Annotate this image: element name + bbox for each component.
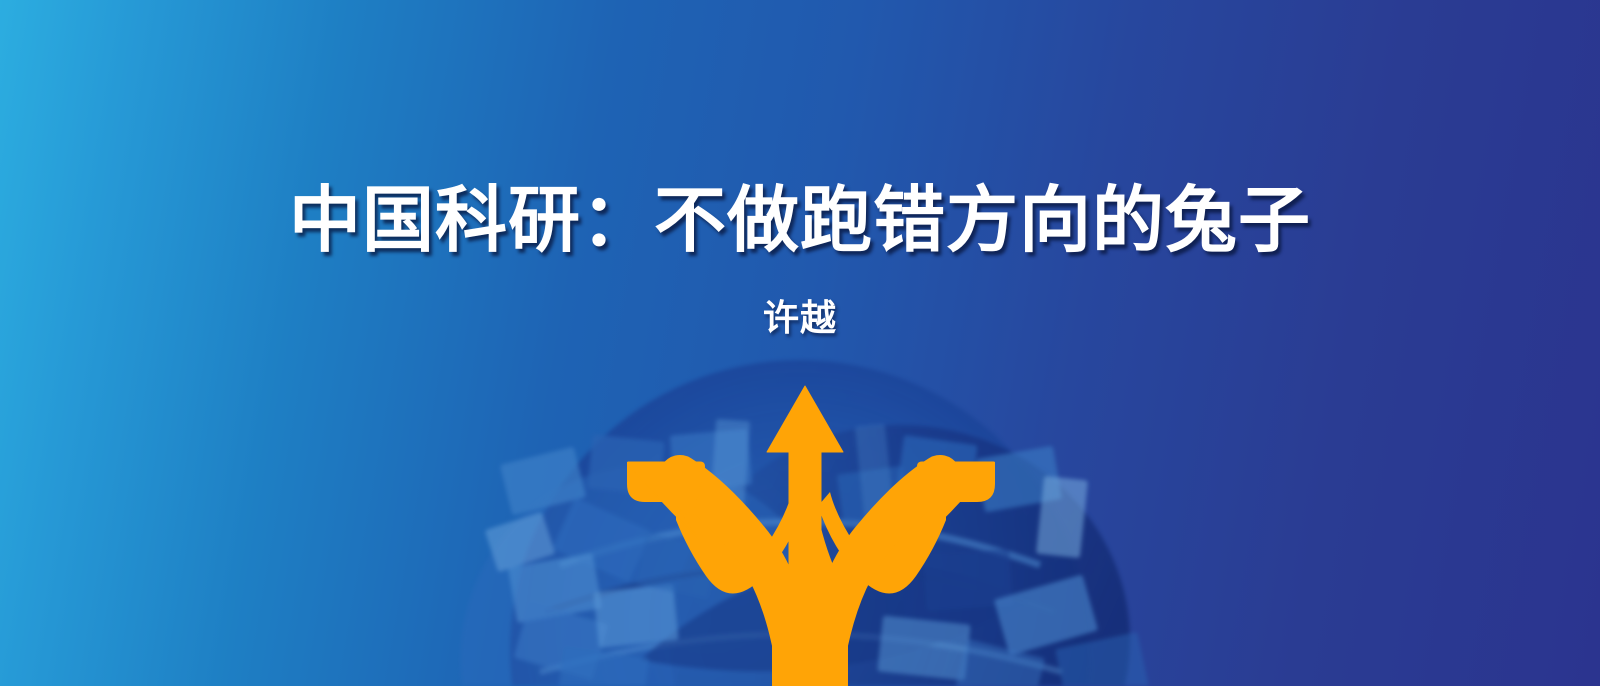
presentation-slide: 中国科研：不做跑错方向的兔子 许越 [0,0,1600,686]
slide-text-layer: 中国科研：不做跑错方向的兔子 许越 [0,0,1600,686]
slide-subtitle-author: 许越 [0,296,1600,340]
slide-title: 中国科研：不做跑错方向的兔子 [0,178,1600,264]
